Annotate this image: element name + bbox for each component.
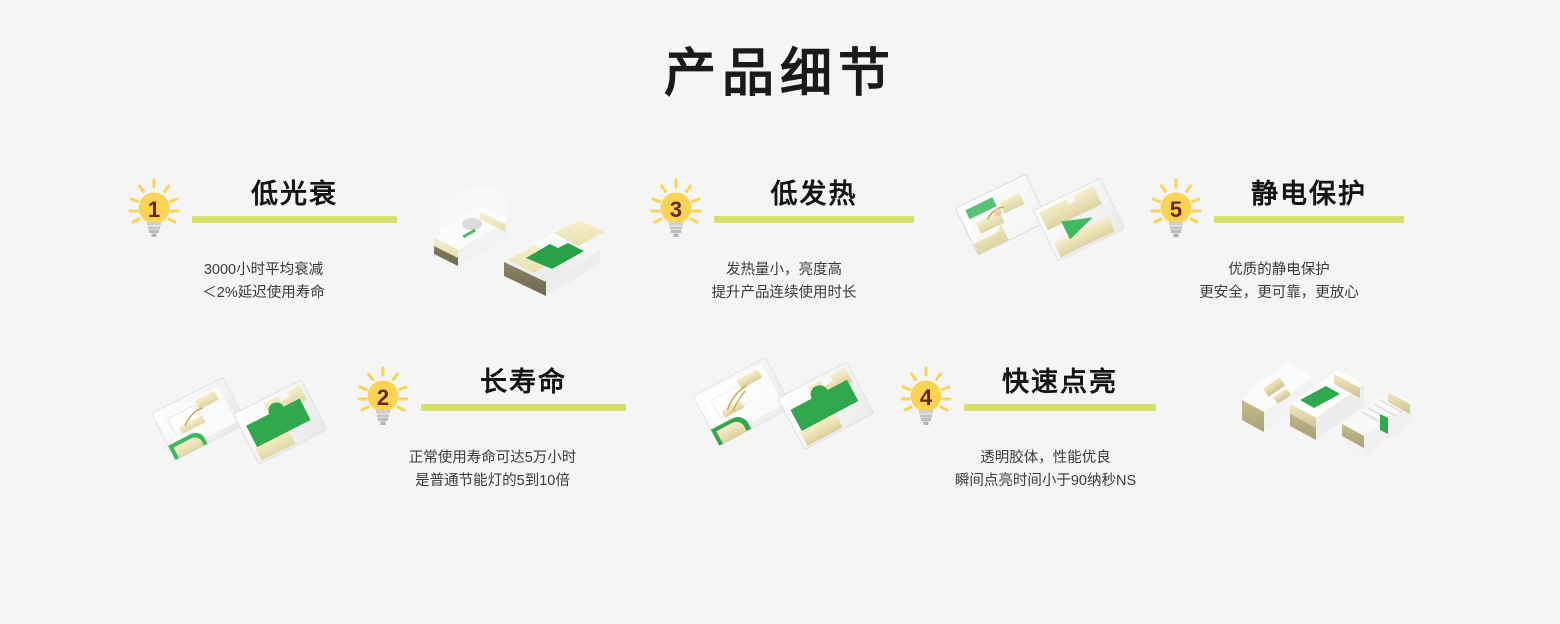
feature-4-head: 4 快速点亮: [898, 366, 1193, 428]
feature-2-desc-line-1: 正常使用寿命可达5万小时: [355, 447, 630, 470]
product-details-page: 产品细节: [0, 0, 1560, 624]
feature-1-description: 3000小时平均衰减 ＜2%延迟使用寿命: [126, 259, 401, 306]
lightbulb-icon-2: 2: [355, 366, 411, 428]
feature-5-title: 静电保护: [1214, 180, 1404, 210]
feature-1-head: 1 低光衰: [126, 178, 401, 240]
feature-5-description: 优质的静电保护 更安全，更可靠，更放心: [1148, 259, 1410, 306]
product-image-4: [690, 350, 885, 470]
feature-5-underline: [1214, 216, 1404, 223]
lightbulb-icon-5: 5: [1148, 178, 1204, 240]
feature-2-desc-line-2: 是普通节能灯的5到10倍: [355, 470, 630, 493]
feature-4-desc-line-1: 透明胶体，性能优良: [898, 447, 1193, 470]
product-image-1: [418, 186, 618, 298]
feature-block-1: 1 低光衰 3000小时平均衰减 ＜2%延迟使用寿命: [126, 178, 401, 306]
feature-3-head: 3 低发热: [648, 178, 920, 240]
feature-3-desc-line-2: 提升产品连续使用时长: [648, 282, 920, 305]
bulb-number-3: 3: [670, 197, 682, 222]
feature-3-title: 低发热: [714, 180, 914, 210]
product-image-2: [950, 166, 1135, 281]
product-image-5: [1212, 348, 1417, 473]
feature-2-title: 长寿命: [421, 368, 626, 398]
feature-5-head: 5 静电保护: [1148, 178, 1410, 240]
feature-3-underline: [714, 216, 914, 223]
bulb-number-2: 2: [377, 385, 389, 410]
feature-5-desc-line-2: 更安全，更可靠，更放心: [1148, 282, 1410, 305]
feature-3-description: 发热量小，亮度高 提升产品连续使用时长: [648, 259, 920, 306]
lightbulb-icon-3: 3: [648, 178, 704, 240]
feature-4-heading: 快速点亮: [964, 366, 1156, 411]
lightbulb-icon-1: 1: [126, 178, 182, 240]
feature-block-2: 2 长寿命 正常使用寿命可达5万小时 是普通节能灯的5到10倍: [355, 366, 630, 494]
feature-block-3: 3 低发热 发热量小，亮度高 提升产品连续使用时长: [648, 178, 920, 306]
bulb-number-1: 1: [148, 197, 160, 222]
product-image-3: [150, 366, 335, 481]
feature-1-heading: 低光衰: [192, 178, 397, 223]
feature-1-underline: [192, 216, 397, 223]
lightbulb-icon-4: 4: [898, 366, 954, 428]
feature-2-underline: [421, 404, 626, 411]
feature-2-description: 正常使用寿命可达5万小时 是普通节能灯的5到10倍: [355, 447, 630, 494]
feature-3-desc-line-1: 发热量小，亮度高: [648, 259, 920, 282]
feature-block-5: 5 静电保护 优质的静电保护 更安全，更可靠，更放心: [1148, 178, 1410, 306]
page-title: 产品细节: [0, 45, 1560, 105]
feature-block-4: 4 快速点亮 透明胶体，性能优良 瞬间点亮时间小于90纳秒NS: [898, 366, 1193, 494]
feature-2-head: 2 长寿命: [355, 366, 630, 428]
feature-3-heading: 低发热: [714, 178, 914, 223]
feature-1-title: 低光衰: [192, 180, 397, 210]
feature-2-heading: 长寿命: [421, 366, 626, 411]
feature-5-desc-line-1: 优质的静电保护: [1148, 259, 1410, 282]
feature-4-title: 快速点亮: [964, 368, 1156, 398]
bulb-number-5: 5: [1170, 197, 1182, 222]
feature-1-desc-line-2: ＜2%延迟使用寿命: [126, 282, 401, 305]
feature-1-desc-line-1: 3000小时平均衰减: [126, 259, 401, 282]
feature-5-heading: 静电保护: [1214, 178, 1404, 223]
feature-4-desc-line-2: 瞬间点亮时间小于90纳秒NS: [898, 470, 1193, 493]
feature-4-underline: [964, 404, 1156, 411]
bulb-number-4: 4: [920, 385, 933, 410]
feature-4-description: 透明胶体，性能优良 瞬间点亮时间小于90纳秒NS: [898, 447, 1193, 494]
